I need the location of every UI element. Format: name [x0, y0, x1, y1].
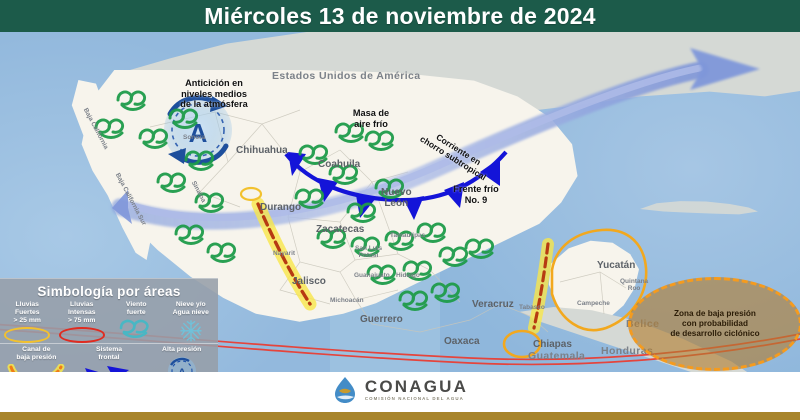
legend-item-lluvias-intensas[interactable]: Lluvias Intensas > 75 mm	[55, 299, 110, 343]
legend-item-alta-presion[interactable]: Alta presión A	[145, 344, 218, 372]
page-title: Miércoles 13 de noviembre de 2024	[204, 3, 595, 30]
legend-item-label: Lluvias Fuertes > 25 mm	[14, 301, 41, 325]
dashed-trough-icon	[7, 364, 65, 372]
logo-subtitle: COMISIÓN NACIONAL DEL AGUA	[365, 397, 468, 401]
wind-swirl-icon	[119, 319, 153, 338]
legend-item-viento-fuerte[interactable]: Viento fuerte	[109, 299, 164, 343]
footer-gold-bar	[0, 412, 800, 420]
header-bar: Miércoles 13 de noviembre de 2024	[0, 0, 800, 32]
ellipse-red-icon	[59, 327, 105, 343]
high-pressure-a-icon: A	[165, 356, 199, 372]
conagua-logo-text: CONAGUA COMISIÓN NACIONAL DEL AGUA	[365, 378, 468, 401]
conagua-logo: CONAGUA COMISIÓN NACIONAL DEL AGUA	[0, 372, 800, 408]
legend-item-label: Canal de baja presión	[16, 346, 56, 362]
map-canvas: A	[0, 32, 800, 372]
ellipse-yellow-icon	[4, 327, 50, 343]
legend-panel: Simbología por áreas Lluvias Fuertes > 2…	[0, 278, 218, 372]
legend-row-areas: Lluvias Fuertes > 25 mm Lluvias Intensas…	[0, 299, 218, 344]
legend-item-label: Alta presión	[162, 346, 201, 354]
legend-item-sistema-frontal[interactable]: Sistema frontal	[73, 344, 146, 372]
conagua-water-drop-icon	[332, 376, 358, 404]
legend-row-systems: Canal de baja presión Sistema frontal Al…	[0, 344, 218, 372]
front-triangles-icon	[83, 364, 135, 372]
snowflake-icon	[178, 319, 204, 343]
legend-item-lluvias-fuertes[interactable]: Lluvias Fuertes > 25 mm	[0, 299, 55, 343]
legend-item-label: Lluvias Intensas > 75 mm	[68, 301, 96, 325]
legend-item-label: Viento fuerte	[126, 301, 147, 317]
weather-forecast-map: Miércoles 13 de noviembre de 2024	[0, 0, 800, 420]
state-label: Guerrero	[360, 314, 403, 325]
legend-item-label: Sistema frontal	[96, 346, 122, 362]
cyclone-development-zone: Zona de baja presión con probabilidad de…	[628, 277, 800, 371]
legend-item-label: Nieve y/o Agua nieve	[173, 301, 209, 317]
footer: CONAGUA COMISIÓN NACIONAL DEL AGUA	[0, 372, 800, 420]
logo-name: CONAGUA	[365, 378, 468, 395]
legend-item-canal-baja-presion[interactable]: Canal de baja presión	[0, 344, 73, 372]
legend-title: Simbología por áreas	[0, 279, 218, 299]
cyclone-zone-label: Zona de baja presión con probabilidad de…	[670, 309, 759, 340]
legend-item-nieve[interactable]: Nieve y/o Agua nieve	[164, 299, 219, 343]
